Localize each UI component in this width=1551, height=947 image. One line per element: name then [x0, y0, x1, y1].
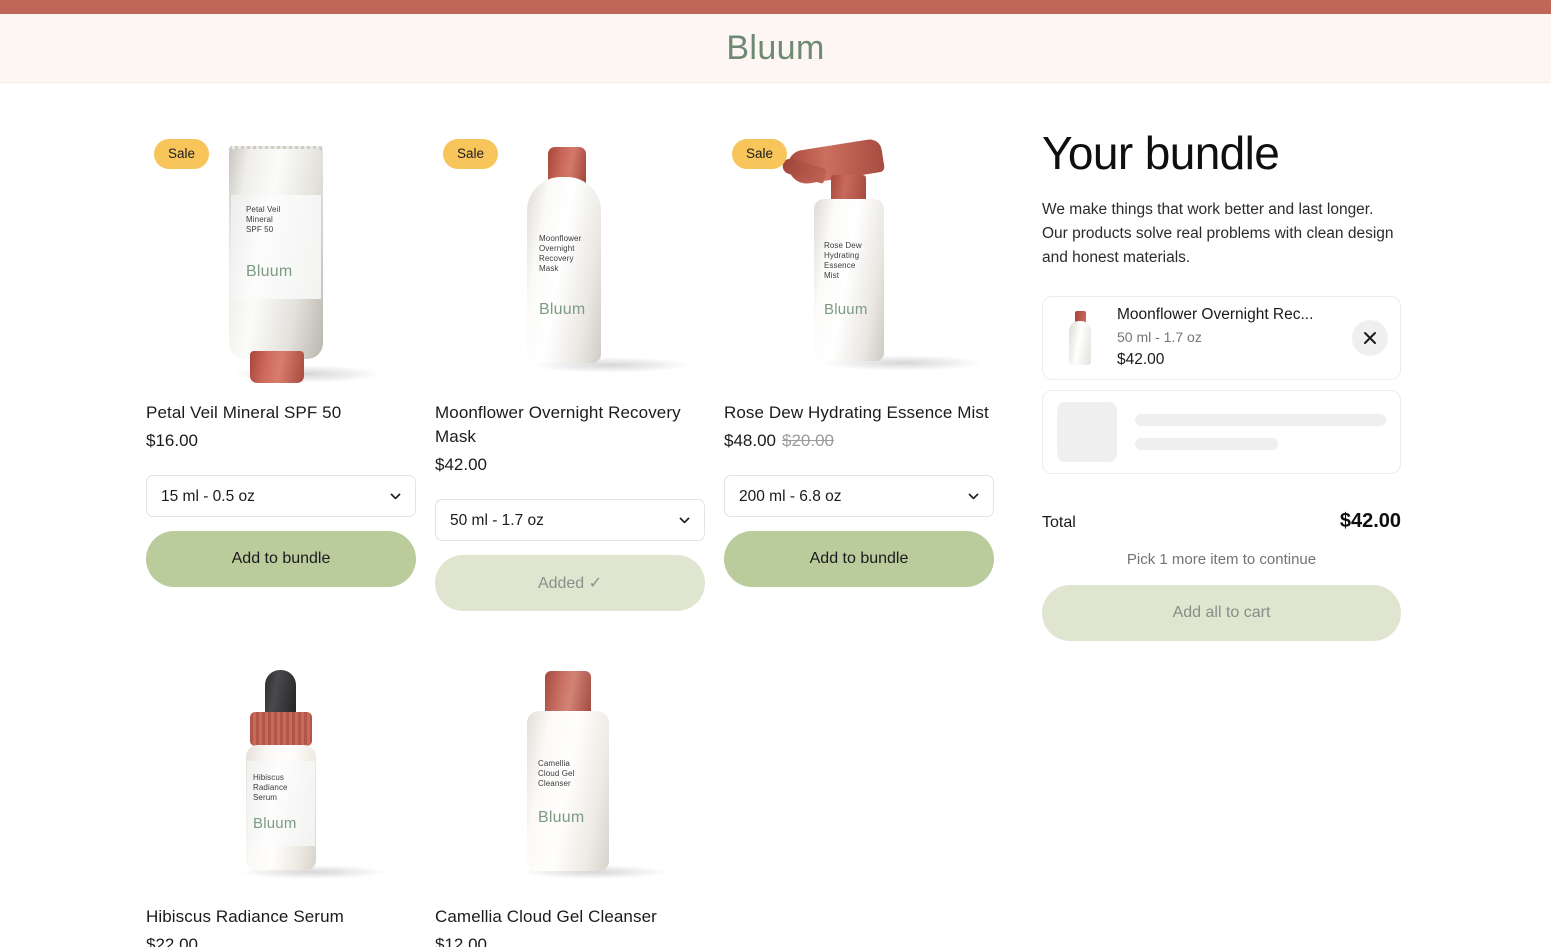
add-all-to-cart-button[interactable]: Add all to cart [1042, 585, 1401, 641]
render-brand-mark: Bluum [824, 301, 868, 318]
total-value: $42.00 [1340, 510, 1401, 533]
render-dropper-collar [250, 712, 312, 746]
label-line: Cleanser [538, 779, 571, 788]
skeleton-line-secondary [1135, 438, 1278, 450]
label-line: SPF 50 [246, 225, 273, 234]
product-card-petal-veil[interactable]: Sale Petal Veil Mineral SPF 50 Bluum Pet… [146, 129, 416, 611]
label-line: Cloud Gel [538, 769, 574, 778]
label-line: Moonflower [539, 234, 581, 243]
skeleton-thumbnail [1057, 402, 1117, 462]
sale-badge: Sale [732, 139, 787, 169]
brand-logo[interactable]: Bluum [726, 29, 824, 68]
variant-select-petal-veil[interactable]: 15 ml - 0.5 oz [146, 475, 416, 517]
added-button-moonflower[interactable]: Added ✓ [435, 555, 705, 611]
label-line: Serum [253, 793, 277, 802]
bundle-total-row: Total $42.00 [1042, 510, 1401, 533]
label-line: Recovery [539, 254, 574, 263]
render-label-text: Petal Veil Mineral SPF 50 [246, 205, 280, 235]
page-body: Sale Petal Veil Mineral SPF 50 Bluum Pet… [0, 83, 1551, 947]
add-to-bundle-button-rose-dew[interactable]: Add to bundle [724, 531, 994, 587]
variant-select-moonflower[interactable]: 50 ml - 1.7 oz [435, 499, 705, 541]
product-title: Rose Dew Hydrating Essence Mist [724, 401, 994, 425]
product-price: $42.00 [435, 453, 705, 477]
bundle-item-variant: 50 ml - 1.7 oz [1117, 327, 1340, 347]
bundle-item-name: Moonflower Overnight Rec... [1117, 305, 1340, 325]
product-card-camellia[interactable]: Camellia Cloud Gel Cleanser Bluum Camell… [435, 633, 705, 947]
label-line: Mineral [246, 215, 273, 224]
label-line: Hibiscus [253, 773, 284, 782]
product-title: Hibiscus Radiance Serum [146, 905, 416, 929]
label-line: Camellia [538, 759, 570, 768]
total-label: Total [1042, 514, 1076, 532]
variant-select-wrapper: 15 ml - 0.5 oz [146, 475, 416, 517]
product-title: Moonflower Overnight Recovery Mask [435, 401, 705, 449]
variant-select-rose-dew[interactable]: 200 ml - 6.8 oz [724, 475, 994, 517]
label-line: Rose Dew [824, 241, 862, 250]
bundle-empty-slot[interactable] [1042, 390, 1401, 474]
product-image-rose-dew: Sale Rose Dew Hydrating Essence Mist Blu… [724, 129, 994, 384]
label-line: Hydrating [824, 251, 859, 260]
product-image-hibiscus: Hibiscus Radiance Serum Bluum [146, 633, 416, 888]
add-to-bundle-button-petal-veil[interactable]: Add to bundle [146, 531, 416, 587]
remove-item-button[interactable] [1352, 320, 1388, 356]
product-image-petal-veil: Sale Petal Veil Mineral SPF 50 Bluum [146, 129, 416, 384]
skeleton-line-primary [1135, 414, 1386, 426]
render-brand-mark: Bluum [253, 815, 297, 832]
page-title: Your bundle [1042, 129, 1401, 178]
bundle-hint-text: Pick 1 more item to continue [1042, 551, 1401, 568]
bundle-item-thumbnail [1055, 307, 1105, 369]
render-label-text: Camellia Cloud Gel Cleanser [538, 759, 574, 789]
product-title: Petal Veil Mineral SPF 50 [146, 401, 416, 425]
bundle-description: We make things that work better and last… [1042, 198, 1401, 270]
variant-select-wrapper: 200 ml - 6.8 oz [724, 475, 994, 517]
label-line: Essence [824, 261, 855, 270]
render-tube-cap [250, 351, 304, 383]
render-brand-mark: Bluum [539, 301, 585, 319]
product-card-rose-dew[interactable]: Sale Rose Dew Hydrating Essence Mist Blu… [724, 129, 994, 611]
render-label-text: Rose Dew Hydrating Essence Mist [824, 241, 862, 281]
bundle-item-info: Moonflower Overnight Rec... 50 ml - 1.7 … [1117, 305, 1340, 370]
render-brand-mark: Bluum [246, 263, 292, 281]
site-header: Bluum [0, 14, 1551, 83]
price-current: $16.00 [146, 431, 198, 450]
sale-badge: Sale [443, 139, 498, 169]
render-label-text: Moonflower Overnight Recovery Mask [539, 234, 581, 274]
label-line: Mist [824, 271, 839, 280]
render-dropper-bulb [265, 670, 296, 716]
variant-select-wrapper: 50 ml - 1.7 oz [435, 499, 705, 541]
product-title: Camellia Cloud Gel Cleanser [435, 905, 705, 929]
skeleton-lines [1135, 414, 1386, 450]
product-grid: Sale Petal Veil Mineral SPF 50 Bluum Pet… [146, 129, 994, 947]
product-price: $12.00 [435, 933, 705, 947]
render-label-text: Hibiscus Radiance Serum [253, 773, 288, 803]
sale-badge: Sale [154, 139, 209, 169]
label-line: Mask [539, 264, 559, 273]
product-render: Camellia Cloud Gel Cleanser Bluum [435, 633, 705, 888]
bundle-items-list: Moonflower Overnight Rec... 50 ml - 1.7 … [1042, 296, 1401, 474]
product-price: $48.00$20.00 [724, 429, 994, 453]
close-icon [1363, 331, 1377, 345]
bundle-sidebar: Your bundle We make things that work bet… [1042, 129, 1401, 641]
price-current: $48.00 [724, 431, 776, 450]
price-compare-at: $20.00 [782, 431, 834, 450]
label-line: Radiance [253, 783, 288, 792]
render-brand-mark: Bluum [538, 809, 584, 827]
product-card-hibiscus[interactable]: Hibiscus Radiance Serum Bluum Hibiscus R… [146, 633, 416, 947]
label-line: Overnight [539, 244, 575, 253]
accent-top-bar [0, 0, 1551, 14]
price-current: $22.00 [146, 935, 198, 947]
label-line: Petal Veil [246, 205, 280, 214]
thumb-body [1069, 321, 1091, 365]
product-image-camellia: Camellia Cloud Gel Cleanser Bluum [435, 633, 705, 888]
product-card-moonflower[interactable]: Sale Moonflower Overnight Recovery Mask … [435, 129, 705, 611]
product-render: Hibiscus Radiance Serum Bluum [146, 633, 416, 888]
product-image-moonflower: Sale Moonflower Overnight Recovery Mask … [435, 129, 705, 384]
bundle-item-price: $42.00 [1117, 350, 1340, 370]
price-current: $42.00 [435, 455, 487, 474]
price-current: $12.00 [435, 935, 487, 947]
product-price: $22.00 [146, 933, 416, 947]
product-price: $16.00 [146, 429, 416, 453]
bundle-item-row: Moonflower Overnight Rec... 50 ml - 1.7 … [1042, 296, 1401, 380]
render-bottle-body [527, 711, 609, 871]
